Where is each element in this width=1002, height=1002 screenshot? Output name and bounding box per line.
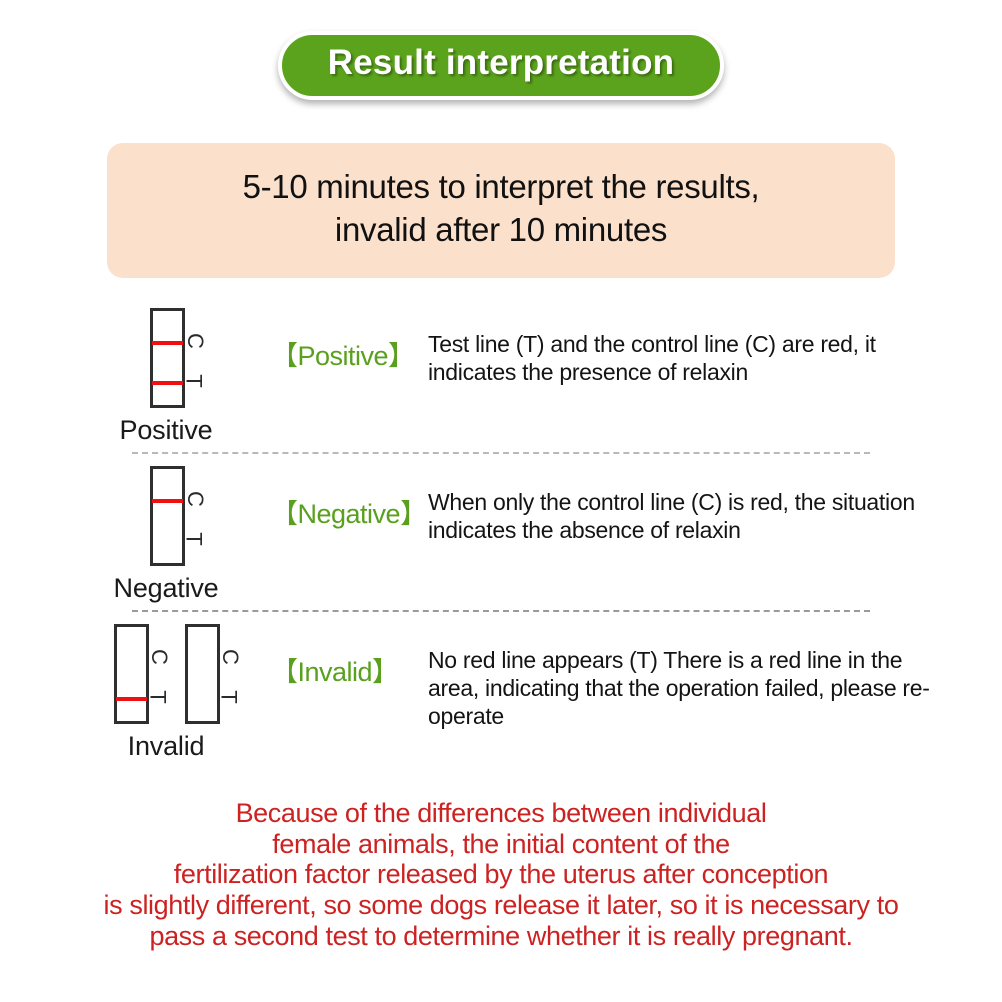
- strip-markers: C T: [149, 624, 179, 724]
- result-rows: C T Positive 【Positive】 Test line (T) an…: [61, 296, 941, 766]
- control-marker-label: C: [219, 649, 241, 665]
- test-strip-unit: C T: [150, 466, 215, 566]
- description-text-invalid: No red line appears (T) There is a red l…: [428, 646, 941, 730]
- strip-pair-negative: C T: [150, 466, 215, 566]
- test-marker-label: T: [147, 690, 169, 703]
- footer-line-3: fertilization factor released by the ute…: [31, 859, 971, 890]
- page-title: Result interpretation: [328, 45, 674, 82]
- header-pill: Result interpretation: [278, 31, 724, 100]
- description-text-positive: Test line (T) and the control line (C) a…: [428, 330, 941, 386]
- test-line-band: [116, 697, 147, 701]
- test-strip-cassette: [150, 308, 185, 408]
- result-row-negative: C T Negative 【Negative】 When only the co…: [61, 454, 941, 608]
- test-strip-cassette: [114, 624, 149, 724]
- header-banner: Result interpretation: [0, 0, 1002, 100]
- timing-banner: 5-10 minutes to interpret the results, i…: [107, 143, 895, 278]
- control-line-band: [152, 341, 183, 345]
- strip-column-positive: C T Positive: [61, 304, 271, 446]
- control-marker-label: C: [183, 333, 205, 349]
- strip-markers: C T: [185, 466, 215, 566]
- footer-line-1: Because of the differences between indiv…: [31, 798, 971, 829]
- test-marker-label: T: [182, 532, 204, 545]
- test-strip-cassette: [150, 466, 185, 566]
- control-line-band: [152, 499, 183, 503]
- strip-markers: C T: [185, 308, 215, 408]
- verdict-label-positive: 【Positive】: [271, 334, 415, 373]
- verdict-label-negative: 【Negative】: [271, 492, 427, 531]
- timing-banner-line-2: invalid after 10 minutes: [127, 208, 875, 252]
- test-strip-unit-left: C T: [114, 624, 179, 724]
- test-marker-label: T: [182, 374, 204, 387]
- footer-line-5: pass a second test to determine whether …: [31, 921, 971, 952]
- test-strip-unit: C T: [150, 308, 215, 408]
- description-text-negative: When only the control line (C) is red, t…: [428, 488, 941, 544]
- strip-column-negative: C T Negative: [61, 462, 271, 604]
- strip-pair-invalid: C T C T: [114, 624, 250, 724]
- control-marker-label: C: [183, 491, 205, 507]
- timing-banner-line-1: 5-10 minutes to interpret the results,: [127, 165, 875, 209]
- verdict-column-invalid: 【Invalid】: [271, 620, 426, 689]
- test-line-band: [152, 381, 183, 385]
- test-strip-cassette: [185, 624, 220, 724]
- strip-caption-positive: Positive: [120, 415, 213, 446]
- strip-caption-negative: Negative: [114, 573, 219, 604]
- test-marker-label: T: [218, 690, 240, 703]
- strip-pair-positive: C T: [150, 308, 215, 408]
- verdict-label-invalid: 【Invalid】: [271, 650, 399, 689]
- strip-column-invalid: C T C T Invalid: [61, 620, 271, 762]
- footer-line-2: female animals, the initial content of t…: [31, 829, 971, 860]
- description-column-invalid: No red line appears (T) There is a red l…: [426, 620, 941, 730]
- description-column-negative: When only the control line (C) is red, t…: [426, 462, 941, 544]
- footer-note: Because of the differences between indiv…: [31, 798, 971, 952]
- result-row-positive: C T Positive 【Positive】 Test line (T) an…: [61, 296, 941, 450]
- strip-caption-invalid: Invalid: [128, 731, 205, 762]
- verdict-column-negative: 【Negative】: [271, 462, 426, 531]
- strip-markers: C T: [220, 624, 250, 724]
- footer-line-4: is slightly different, so some dogs rele…: [31, 890, 971, 921]
- result-row-invalid: C T C T Invalid 【Invalid】 No red line ap…: [61, 612, 941, 766]
- test-strip-unit-right: C T: [185, 624, 250, 724]
- description-column-positive: Test line (T) and the control line (C) a…: [426, 304, 941, 386]
- control-marker-label: C: [148, 649, 170, 665]
- verdict-column-positive: 【Positive】: [271, 304, 426, 373]
